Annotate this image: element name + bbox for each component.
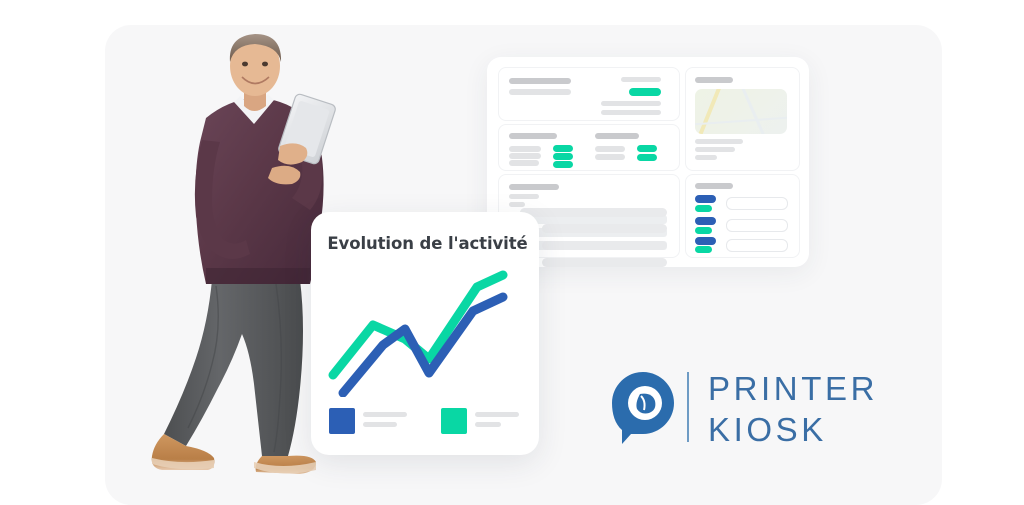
bar xyxy=(595,154,625,160)
eye-right xyxy=(262,62,268,67)
table-row xyxy=(542,258,667,267)
status-badge xyxy=(553,161,573,168)
bar xyxy=(509,202,525,207)
panel-summary xyxy=(498,67,680,121)
bar xyxy=(601,110,661,115)
bar xyxy=(509,89,571,95)
logo-line-1: PRINTER xyxy=(708,368,878,409)
jeans xyxy=(164,280,303,456)
bar xyxy=(509,184,559,190)
panel-map xyxy=(685,67,800,171)
sweater-hem xyxy=(206,268,310,284)
map-road-line xyxy=(739,89,765,134)
bar xyxy=(621,77,661,82)
bar xyxy=(601,101,661,106)
text-input[interactable] xyxy=(726,197,788,210)
status-badge xyxy=(695,227,712,234)
screenshot-root: Evolution de l'activité xyxy=(0,0,1024,493)
status-badge xyxy=(553,153,573,160)
legend-swatch-green xyxy=(441,408,467,434)
panel-rows xyxy=(685,174,800,258)
text-input[interactable] xyxy=(726,239,788,252)
table-row xyxy=(542,241,667,250)
map-road-line xyxy=(696,89,722,134)
chart-card[interactable]: Evolution de l'activité xyxy=(311,212,539,455)
eye-left xyxy=(242,62,248,67)
bar xyxy=(695,147,735,152)
bar xyxy=(509,78,571,84)
legend-label-blue xyxy=(363,412,407,432)
text-input[interactable] xyxy=(726,219,788,232)
series-blue-line xyxy=(343,297,503,393)
logo-wordmark: PRINTER KIOSK xyxy=(708,368,878,450)
bar xyxy=(595,146,625,152)
status-badge xyxy=(695,246,712,253)
speech-bubble-icon xyxy=(610,370,676,446)
bar xyxy=(509,153,541,159)
bar xyxy=(695,139,743,144)
bar xyxy=(509,133,557,139)
status-badge xyxy=(637,154,657,161)
bar xyxy=(695,155,717,160)
status-badge xyxy=(695,237,716,245)
bar xyxy=(595,133,639,139)
page-title: Evolution de l'activité xyxy=(320,234,535,253)
map-thumbnail[interactable] xyxy=(695,89,787,134)
status-badge xyxy=(695,195,716,203)
table-row xyxy=(542,224,667,233)
table-row xyxy=(520,208,667,217)
legend-swatch-blue xyxy=(329,408,355,434)
status-badge xyxy=(637,145,657,152)
status-badge xyxy=(553,145,573,152)
bar xyxy=(509,160,539,166)
chart-legend xyxy=(329,408,525,442)
bar xyxy=(509,146,541,152)
bar xyxy=(509,194,539,199)
bar xyxy=(695,183,733,189)
activity-line-chart xyxy=(325,267,525,397)
brand-logo[interactable]: PRINTER KIOSK xyxy=(610,366,872,450)
logo-divider xyxy=(687,372,689,442)
status-badge xyxy=(695,205,712,212)
logo-line-2: KIOSK xyxy=(708,409,878,450)
legend-label-green xyxy=(475,412,519,432)
panel-stats xyxy=(498,124,680,171)
status-badge xyxy=(695,217,716,225)
status-badge xyxy=(629,88,661,96)
bar xyxy=(695,77,733,83)
